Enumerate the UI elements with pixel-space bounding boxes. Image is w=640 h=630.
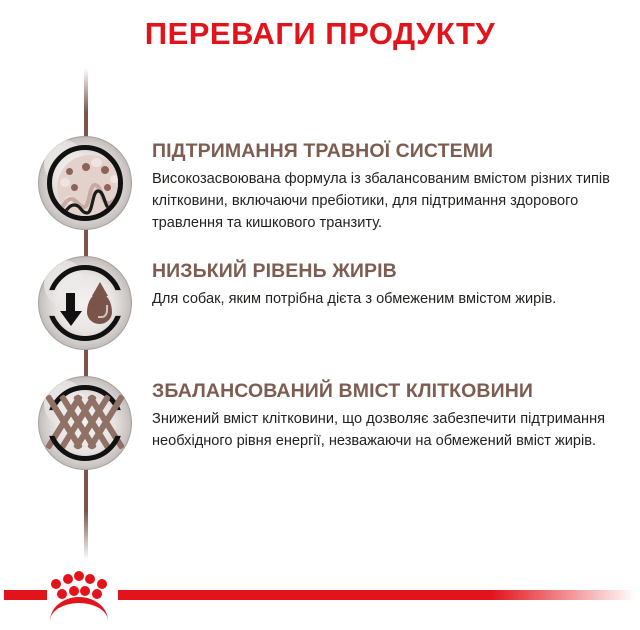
footer-bar-left [4, 590, 47, 600]
product-benefits-page: ПЕРЕВАГИ ПРОДУКТУ [0, 0, 640, 630]
icon-inner [47, 265, 123, 341]
crown-arc [50, 597, 108, 621]
crown-dot [92, 589, 102, 599]
digestive-system-icon [38, 136, 132, 230]
feature-text-block: ЗБАЛАНСОВАНИЙ ВМІСТ КЛІТКОВИНИ Знижений … [152, 380, 626, 452]
feature-body: Знижений вміст клітковини, що дозволяє з… [152, 408, 626, 452]
feature-body: Для собак, яким потрібна дієта з обмежен… [152, 288, 626, 310]
icon-inner [47, 385, 123, 461]
low-fat-droplet-arrow-icon [38, 256, 132, 350]
down-arrow-head [60, 311, 82, 326]
footer [0, 554, 640, 630]
feature-text-block: НИЗЬКИЙ РІВЕНЬ ЖИРІВ Для собак, яким пот… [152, 260, 626, 310]
intestine-wave [57, 155, 123, 221]
page-title: ПЕРЕВАГИ ПРОДУКТУ [0, 16, 640, 52]
footer-bar-right [118, 590, 636, 600]
crown-dot [69, 586, 79, 596]
crown-dot [85, 574, 95, 584]
crown-dot [57, 589, 67, 599]
feature-text-block: ПІДТРИМАННЯ ТРАВНОЇ СИСТЕМИ Високозасвою… [152, 140, 626, 235]
fat-droplet-icon [87, 293, 112, 324]
crown-dot [97, 579, 107, 589]
crown-dot [74, 571, 84, 581]
fibre-mesh-icon [38, 376, 132, 470]
crown-dot [80, 586, 90, 596]
feature-heading: ПІДТРИМАННЯ ТРАВНОЇ СИСТЕМИ [152, 140, 626, 163]
fibre-crosshatch [57, 395, 113, 451]
feature-heading: ЗБАЛАНСОВАНИЙ ВМІСТ КЛІТКОВИНИ [152, 380, 626, 403]
crown-dot [63, 574, 73, 584]
feature-body: Високозасвоювана формула із збалансовани… [152, 168, 626, 235]
icon-ring [47, 145, 123, 221]
royal-canin-crown-logo [48, 568, 110, 618]
feature-heading: НИЗЬКИЙ РІВЕНЬ ЖИРІВ [152, 260, 626, 283]
crown-dot [51, 579, 61, 589]
icon-inner [47, 145, 123, 221]
